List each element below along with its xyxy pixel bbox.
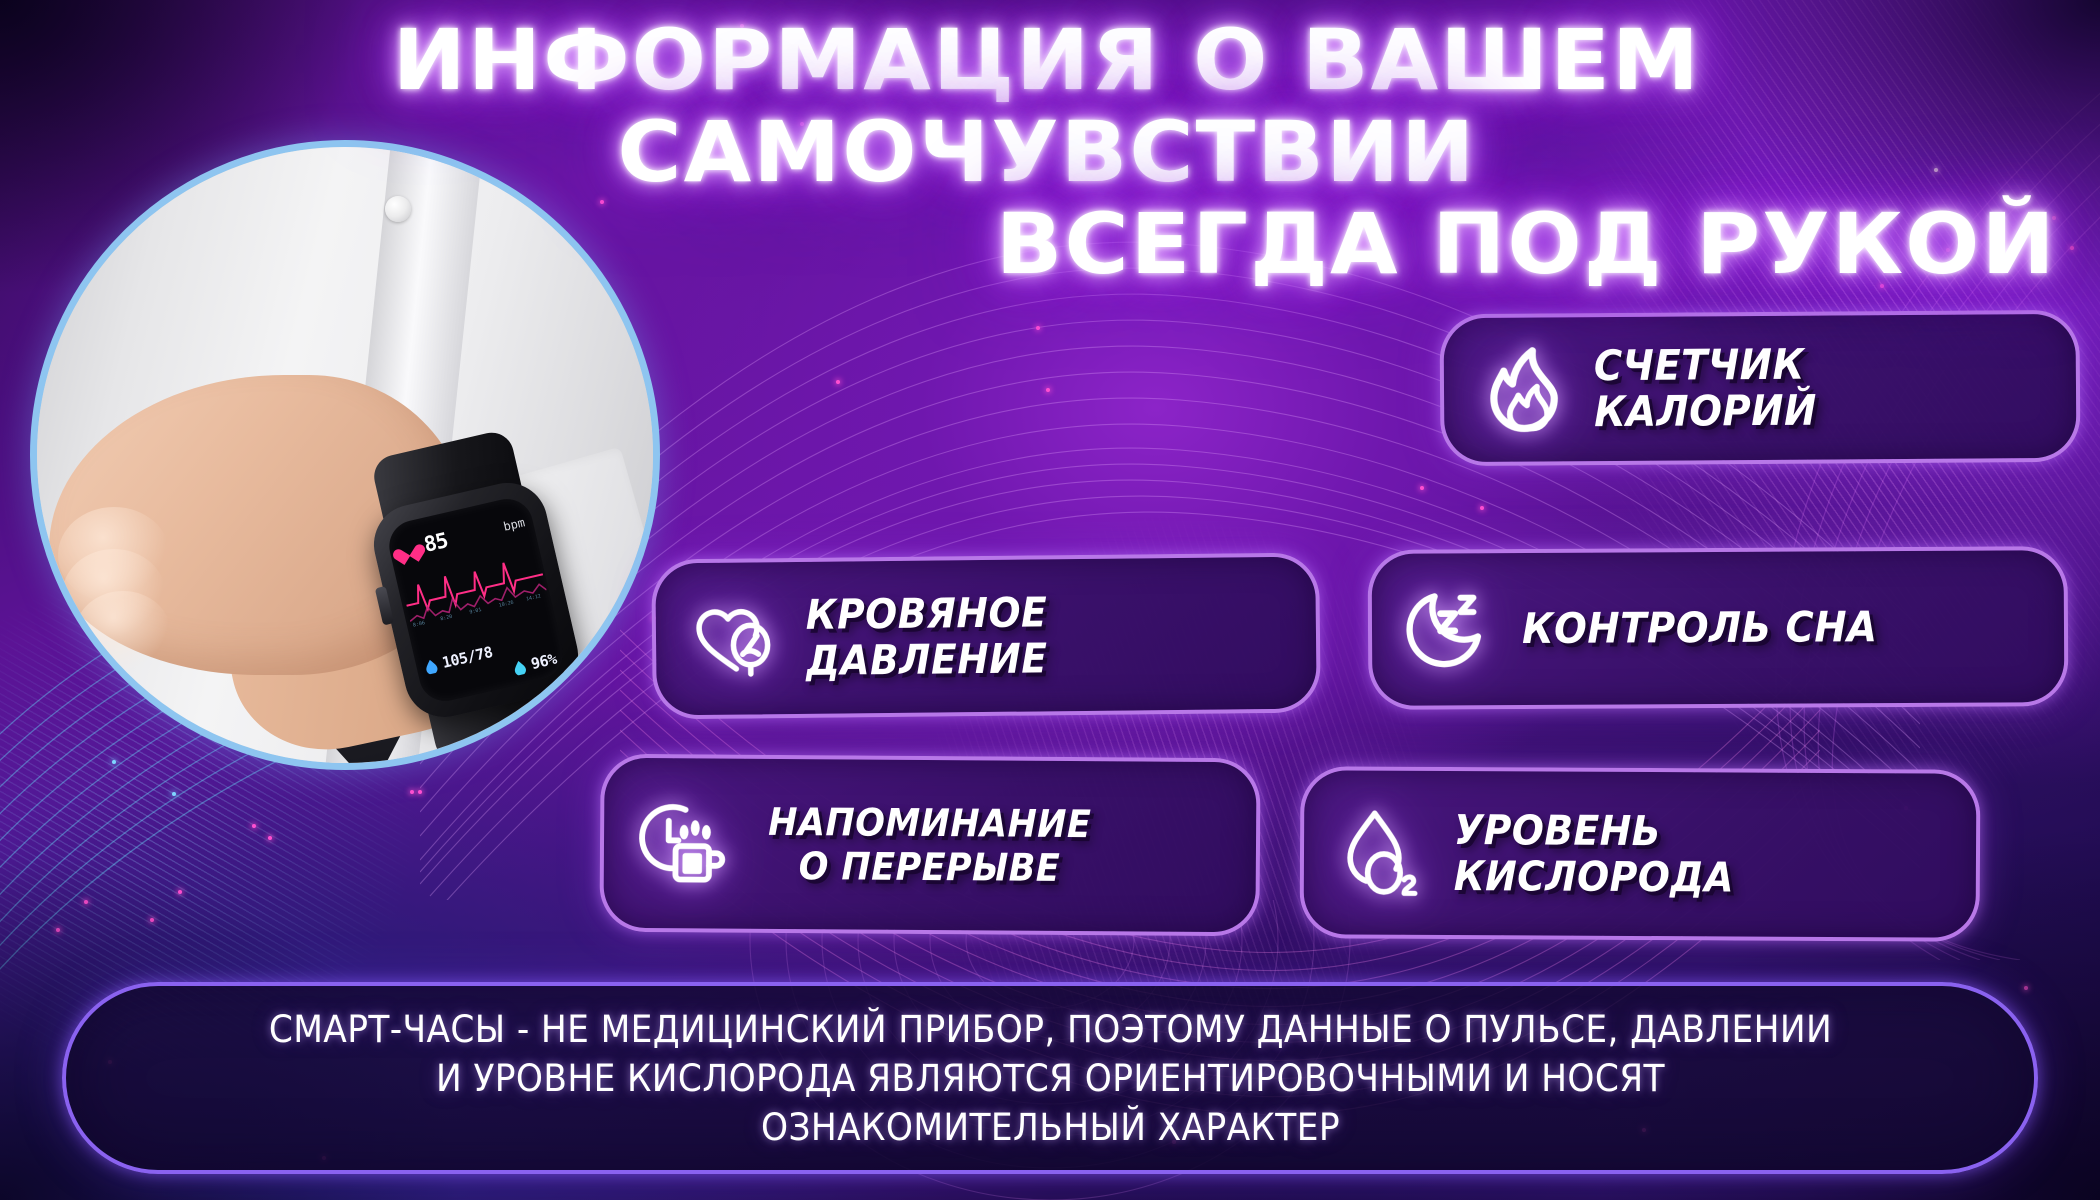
feature-label: КРОВЯНОЕ ДАВЛЕНИЕ	[806, 587, 1237, 684]
feature-label: СЧЕТЧИК КАЛОРИЙ	[1594, 340, 1999, 435]
svg-text:10:26: 10:26	[498, 600, 514, 609]
watch-metrics: 105/78 96%	[422, 626, 558, 696]
droplet-o2-icon	[1338, 806, 1430, 898]
oxygen-value: 96%	[529, 650, 558, 673]
knuckle	[75, 591, 171, 675]
product-photo-circle: 85 bpm 8:06 8:20 9:01 10:26 14:12	[30, 140, 660, 770]
feature-pill-sleep[interactable]: КОНТРОЛЬ СНА	[1368, 546, 2069, 710]
heart-gauge-icon	[690, 592, 783, 685]
banner-stage: ИНФОРМАЦИЯ О ВАШЕМ САМОЧУВСТВИИ ВСЕГДА П…	[0, 0, 2100, 1200]
clock-cup-icon	[638, 797, 731, 890]
heart-icon	[396, 538, 420, 560]
heart-rate-unit: bpm	[502, 515, 526, 534]
svg-text:8:06: 8:06	[413, 620, 426, 627]
feature-pill-break-reminder[interactable]: НАПОМИНАНИЕ О ПЕРЕРЫВЕ	[599, 754, 1260, 937]
blood-pressure-icon	[423, 657, 439, 675]
svg-text:8:20: 8:20	[440, 614, 453, 623]
feature-label: НАПОМИНАНИЕ О ПЕРЕРЫВЕ	[768, 800, 1092, 890]
disclaimer-banner: СМАРТ-ЧАСЫ - НЕ МЕДИЦИНСКИЙ ПРИБОР, ПОЭТ…	[62, 982, 2038, 1174]
feature-label: УРОВЕНЬ КИСЛОРОДА	[1454, 807, 1896, 901]
svg-text:9:01: 9:01	[469, 607, 482, 616]
heart-rate-value: 85	[422, 528, 450, 557]
watch-screen: 85 bpm 8:06 8:20 9:01 10:26 14:12	[384, 494, 568, 706]
flame-icon	[1478, 343, 1571, 436]
feature-pill-oxygen[interactable]: УРОВЕНЬ КИСЛОРОДА	[1300, 766, 1981, 942]
feature-pill-calories[interactable]: СЧЕТЧИК КАЛОРИЙ	[1439, 310, 2080, 466]
oxygen-drop-icon	[512, 658, 528, 676]
feature-label: КОНТРОЛЬ СНА	[1522, 604, 1878, 652]
feature-pill-blood-pressure[interactable]: КРОВЯНОЕ ДАВЛЕНИЕ	[651, 553, 1321, 720]
moon-zzz-icon	[1406, 583, 1498, 675]
disclaimer-text: СМАРТ-ЧАСЫ - НЕ МЕДИЦИНСКИЙ ПРИБОР, ПОЭТ…	[268, 1005, 1831, 1152]
svg-text:14:12: 14:12	[526, 593, 542, 602]
